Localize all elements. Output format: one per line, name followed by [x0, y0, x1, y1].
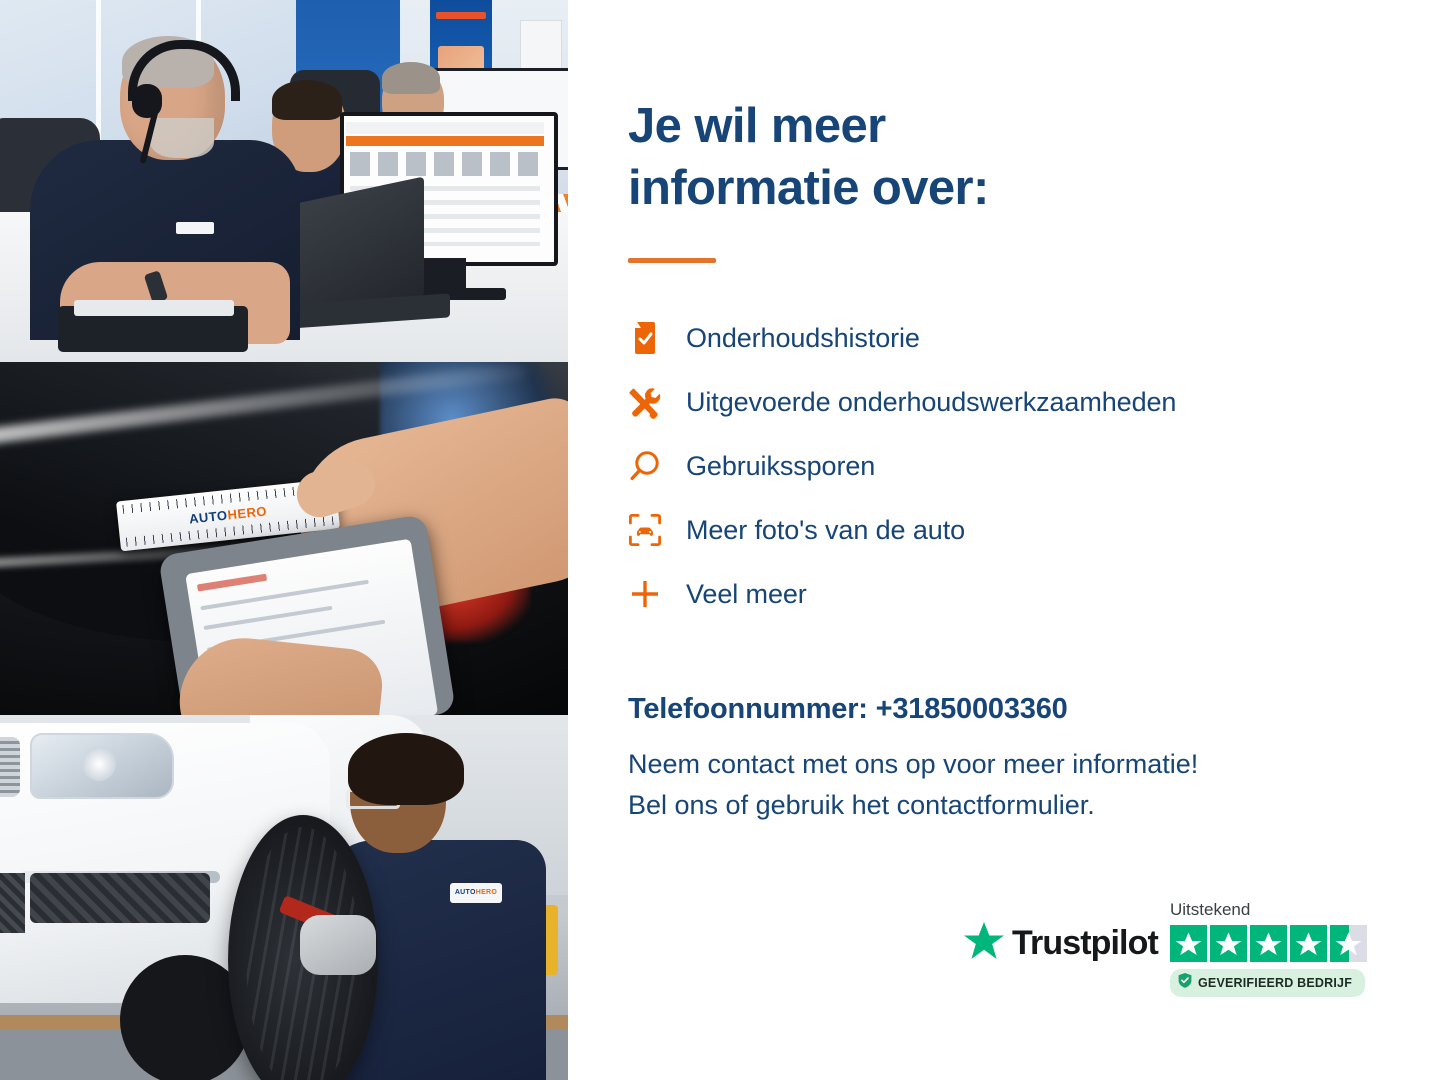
- trustpilot-logo: Trustpilot: [964, 922, 1158, 965]
- agent-3-hair: [382, 62, 440, 94]
- document-check-icon: [626, 319, 664, 357]
- poster-bar: [436, 12, 486, 19]
- car-scan-icon: [626, 511, 664, 549]
- magnifier-icon: [626, 447, 664, 485]
- photo-call-center: [0, 0, 568, 362]
- star-filled: [1210, 925, 1247, 962]
- title-divider: [628, 258, 716, 263]
- star-filled: [1170, 925, 1207, 962]
- contact-line-2: Bel ons of gebruik het contactformulier.: [628, 790, 1095, 820]
- list-item-label: Uitgevoerde onderhoudswerkzaamheden: [686, 387, 1176, 418]
- list-item: Gebruikssporen: [626, 434, 1416, 498]
- brand-text-hero: HERO: [476, 889, 497, 896]
- phone-number[interactable]: Telefoonnummer: +31850003360: [628, 693, 1068, 726]
- trustpilot-rating-block: Uitstekend GEVERIFIEERD BEDRIJ: [1170, 900, 1384, 997]
- monitor-stand: [420, 258, 466, 290]
- upper-grille: [0, 737, 20, 797]
- star-filled: [1250, 925, 1287, 962]
- list-item-label: Meer foto's van de auto: [686, 515, 965, 546]
- agent-2-hair: [272, 80, 342, 120]
- star-filled: [1290, 925, 1327, 962]
- headline-line-2: informatie over:: [628, 161, 989, 215]
- polo-logo: [176, 222, 214, 234]
- contact-instructions: Neem contact met ons op voor meer inform…: [628, 744, 1388, 826]
- monitor-browser-bar: [346, 122, 544, 134]
- monitor-orange-bar: [346, 136, 544, 146]
- list-item-label: Onderhoudshistorie: [686, 323, 920, 354]
- tools-icon: [626, 383, 664, 421]
- work-glove: [300, 915, 376, 975]
- contact-line-1: Neem contact met ons op voor meer inform…: [628, 749, 1198, 779]
- photo-column: AUTOHERO: [0, 0, 568, 1080]
- trustpilot-widget[interactable]: Trustpilot Uitstekend: [964, 900, 1384, 1005]
- photo-damage-inspection: AUTOHERO: [0, 362, 568, 715]
- agent-1-beard: [150, 118, 214, 158]
- rating-label: Uitstekend: [1170, 900, 1384, 920]
- content-panel: Je wil meerinformatie over: Onderhoudshi…: [568, 0, 1440, 1080]
- photo-mechanic-tire: AUTOHERO: [0, 715, 568, 1080]
- mechanic-polo-logo: AUTOHERO: [450, 883, 502, 903]
- tablet-app-header: [197, 574, 267, 592]
- list-item-label: Gebruikssporen: [686, 451, 875, 482]
- list-item: Meer foto's van de auto: [626, 498, 1416, 562]
- verified-company-badge: GEVERIFIEERD BEDRIJF: [1170, 969, 1365, 997]
- list-item-label: Veel meer: [686, 579, 807, 610]
- feature-list: Onderhoudshistorie Uitgevoerde onderhoud…: [626, 306, 1416, 626]
- star-half: [1330, 925, 1367, 962]
- tablet-text-line: [203, 606, 332, 630]
- list-item: Onderhoudshistorie: [626, 306, 1416, 370]
- trustpilot-wordmark: Trustpilot: [1012, 924, 1158, 963]
- page-title: Je wil meerinformatie over:: [628, 96, 1108, 219]
- monitor-car-cards: [350, 152, 540, 176]
- list-item: Veel meer: [626, 562, 1416, 626]
- headlight: [30, 733, 174, 799]
- side-vent: [0, 873, 25, 933]
- trustpilot-star-icon: [964, 922, 1004, 965]
- verified-label: GEVERIFIEERD BEDRIJF: [1198, 976, 1352, 990]
- lower-grille: [30, 873, 210, 923]
- verified-shield-icon: [1178, 973, 1192, 993]
- list-item: Uitgevoerde onderhoudswerkzaamheden: [626, 370, 1416, 434]
- desk-notepad: [74, 300, 234, 316]
- headline-line-1: Je wil meer: [628, 99, 886, 153]
- mechanic-hair: [348, 733, 464, 805]
- plus-icon: [626, 575, 664, 613]
- star-rating: [1170, 925, 1384, 962]
- brand-text-hero: HERO: [227, 503, 268, 522]
- brand-text-auto: AUTO: [188, 508, 228, 527]
- promo-banner: AUTOHERO: [0, 0, 1440, 1080]
- brand-text-auto: AUTO: [455, 889, 476, 896]
